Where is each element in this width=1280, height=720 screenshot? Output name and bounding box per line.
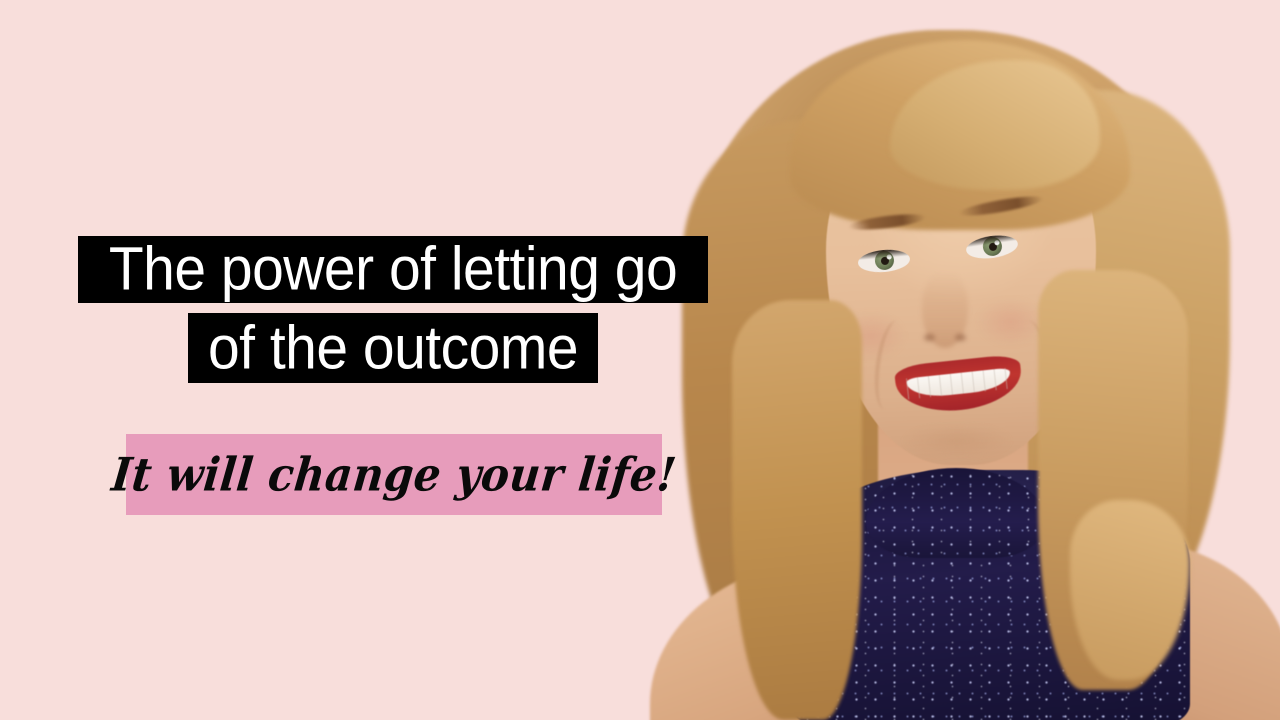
- left-nostril: [924, 334, 935, 341]
- thumbnail-canvas: The power of letting go of the outcome I…: [0, 0, 1280, 720]
- turtleneck-collar: [866, 468, 1046, 558]
- title-line-1-bar: The power of letting go: [78, 236, 708, 303]
- front-hair-strand-left: [732, 300, 862, 720]
- collar-sparkle-texture: [866, 468, 1046, 558]
- teeth: [906, 368, 1011, 400]
- text-overlay: The power of letting go of the outcome I…: [0, 0, 720, 720]
- portrait-image: [640, 0, 1280, 720]
- title-line-1-text: The power of letting go: [109, 239, 677, 301]
- subtitle-text: It will change your life!: [109, 451, 678, 497]
- chin-shadow: [902, 424, 1012, 458]
- subtitle-highlight-band: It will change your life!: [126, 434, 662, 515]
- right-nostril: [955, 334, 966, 341]
- title-line-2-bar: of the outcome: [188, 313, 598, 383]
- title-line-2-text: of the outcome: [208, 317, 578, 379]
- nose: [922, 272, 968, 348]
